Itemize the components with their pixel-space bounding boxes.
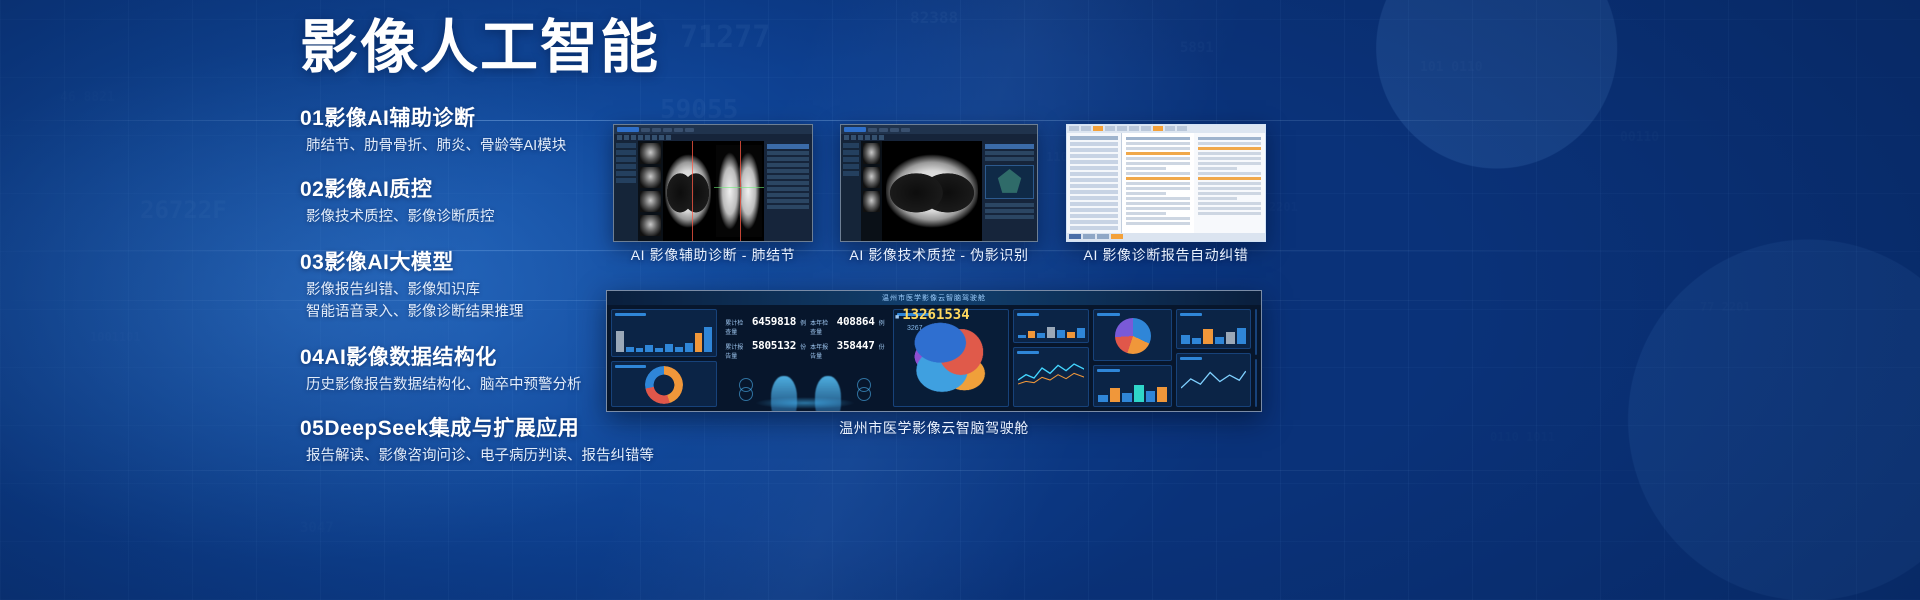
app-logo: [617, 127, 639, 132]
kpi-value-1: 6459818: [752, 315, 796, 328]
dashboard-col-5: [1093, 309, 1172, 407]
screenshot-caption-1: AI 影像辅助诊断 - 肺结节: [613, 245, 813, 265]
window-toolbar: [614, 134, 812, 141]
report-document: [1122, 133, 1193, 233]
dashboard-header: 温州市医学影像云智脑驾驶舱: [607, 291, 1261, 305]
chart-donut-2[interactable]: [1255, 359, 1257, 407]
feature-subtitle-05: 报告解读、影像咨询问诊、电子病历判读、报告纠错等: [300, 445, 720, 467]
kpi-value-2: 408864: [837, 315, 875, 328]
chart-bar-2[interactable]: [1013, 309, 1090, 343]
feature-subtitle-05-line1: 报告解读、影像咨询问诊、电子病历判读、报告纠错等: [306, 445, 720, 467]
screenshot-ai-diagnosis[interactable]: [613, 124, 813, 242]
kpi-unit-3: 份: [800, 342, 806, 351]
pacs-viewer-2: [841, 141, 1037, 241]
kpi-row-1: 累计检查量 6459818 例 本年检查量 408864 例: [725, 315, 884, 336]
findings-header: [767, 144, 809, 149]
dashboard-col-2: 累计检查量 6459818 例 本年检查量 408864 例 累计报告量 580…: [721, 309, 888, 407]
window-titlebar-2: [841, 125, 1037, 134]
window-titlebar: [614, 125, 812, 134]
app-logo-2: [844, 127, 866, 132]
line-chart-svg-2: [1181, 366, 1246, 392]
dashboard-screenshot[interactable]: 温州市医学影像云智脑驾驶舱 累计检查量 6459818 例: [606, 290, 1262, 412]
report-suggestions: [1194, 133, 1265, 233]
qc-panel: [982, 141, 1037, 241]
pacs-sidebar: [614, 141, 638, 241]
pacs-thumbnails: [638, 141, 664, 241]
chart-bar-5[interactable]: [1255, 309, 1257, 355]
map-chart[interactable]: [893, 309, 1009, 407]
chart-bar-1[interactable]: [611, 309, 717, 357]
viewport-axial-2: [882, 141, 982, 241]
dashboard-header-title: 温州市医学影像云智脑驾驶舱: [882, 293, 986, 303]
chart-pie-1[interactable]: [1093, 309, 1172, 361]
report-statusbar: [1067, 233, 1265, 241]
kpi-label-3: 累计报告量: [725, 342, 748, 360]
chart-bar-4[interactable]: [1176, 309, 1251, 349]
dashboard-caption: 温州市医学影像云智脑驾驶舱: [606, 418, 1262, 438]
pacs-viewer: [614, 141, 812, 241]
dashboard-col-1: [611, 309, 717, 407]
screenshot-caption-2: AI 影像技术质控 - 伪影识别: [840, 245, 1038, 265]
kpi-unit-4: 份: [879, 342, 885, 351]
viewport-axial: [663, 141, 713, 241]
pacs-viewports-2: [882, 141, 982, 241]
dashboard-col-3: [893, 309, 1009, 407]
page-title: 影像人工智能: [300, 18, 720, 79]
qc-header: [985, 144, 1034, 149]
chart-line-2[interactable]: [1176, 353, 1251, 407]
screenshot-ai-qc[interactable]: [840, 124, 1038, 242]
report-toolbar: [1067, 125, 1265, 133]
kpi-row-2: 累计报告量 5805132 份 本年报告量 358447 份: [725, 339, 884, 360]
pacs-thumbnails-2: [861, 141, 883, 241]
human-visual: [721, 370, 888, 407]
findings-panel: [764, 141, 812, 241]
counter-value: 13261534: [902, 307, 969, 323]
screenshot-report-correction[interactable]: [1066, 124, 1266, 242]
report-editor: [1067, 133, 1265, 233]
viewport-coronal: [714, 141, 764, 241]
kpi-label-2: 本年检查量: [810, 318, 833, 336]
kpi-unit-2: 例: [879, 318, 885, 327]
kpi-group: 累计检查量 6459818 例 本年检查量 408864 例 累计报告量 580…: [721, 309, 888, 366]
line-chart-svg: [1018, 360, 1085, 387]
screenshot-caption-3: AI 影像诊断报告自动纠错: [1066, 245, 1266, 265]
chart-bar-3[interactable]: [1093, 365, 1172, 407]
kpi-label-4: 本年报告量: [810, 342, 833, 360]
kpi-value-4: 358447: [837, 339, 875, 352]
chart-line-1[interactable]: [1013, 347, 1090, 407]
pacs-viewports: [663, 141, 764, 241]
kpi-value-3: 5805132: [752, 339, 796, 352]
radar-chart: [985, 165, 1034, 199]
chart-donut-1[interactable]: [611, 361, 717, 407]
dashboard-col-4: [1013, 309, 1090, 407]
dashboard-counter: ■ 13261534: [895, 307, 970, 323]
report-worklist: [1067, 133, 1122, 233]
window-toolbar-2: [841, 134, 1037, 141]
counter-sub: 3267: [907, 325, 923, 332]
kpi-unit-1: 例: [800, 318, 806, 327]
pacs-sidebar-2: [841, 141, 861, 241]
dashboard-col-6: [1176, 309, 1251, 407]
dashboard-col-7: [1255, 309, 1257, 407]
kpi-label-1: 累计检查量: [725, 318, 748, 336]
